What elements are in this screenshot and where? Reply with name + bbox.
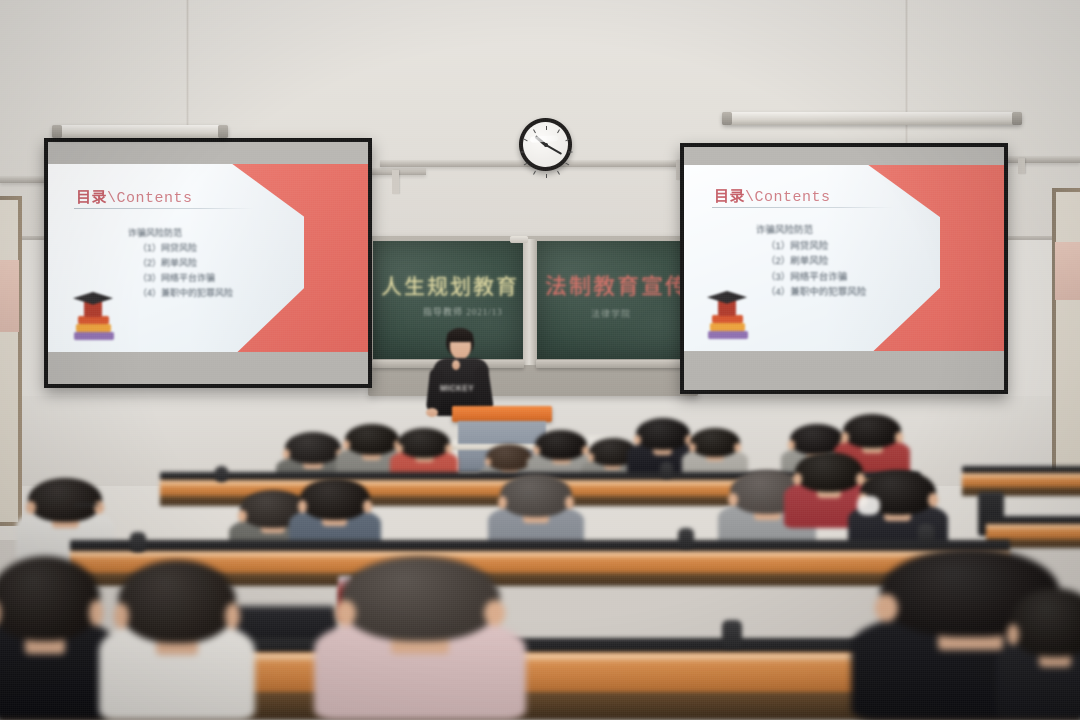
audience-member-ear <box>335 600 356 626</box>
audience-row-3 <box>0 0 1080 720</box>
audience-member-head <box>1010 588 1080 657</box>
classroom-photo: 目录\Contents 诈骗风险防范 （1）网贷风险 （2）刷单风险 （3）网络… <box>0 0 1080 720</box>
audience-member-ear <box>1007 624 1019 645</box>
audience-member-ear <box>484 600 505 626</box>
audience-member-head <box>340 556 500 641</box>
audience-member-ear <box>114 603 129 629</box>
audience-member-head <box>0 556 100 641</box>
audience-member <box>1010 588 1080 720</box>
audience-member <box>340 556 500 720</box>
audience-member-ear <box>89 600 103 626</box>
audience-member-ear <box>875 594 898 622</box>
audience-member <box>118 560 236 720</box>
audience-member-ear <box>225 603 240 629</box>
audience-member-head <box>118 560 236 643</box>
audience-member <box>0 556 100 720</box>
